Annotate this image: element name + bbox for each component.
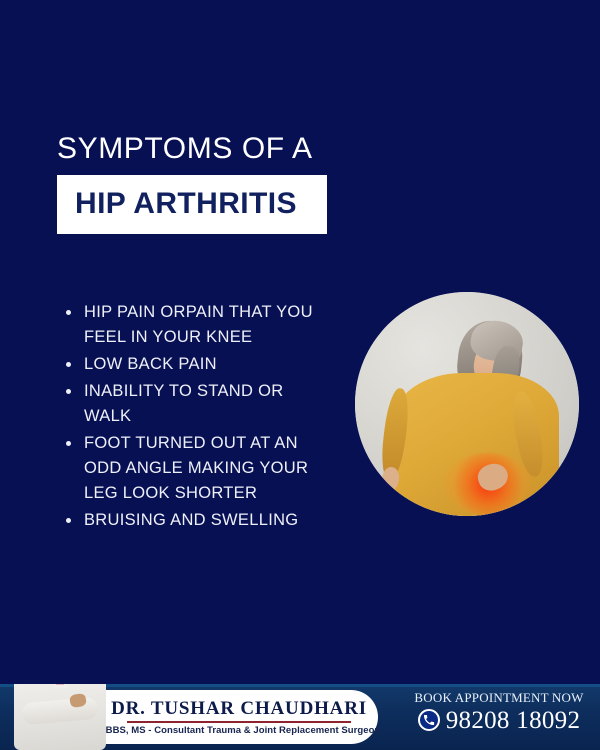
list-item: LOW BACK PAIN [62,352,330,377]
doctor-name-panel: DR. TUSHAR CHAUDHARI MBBS, MS - Consulta… [72,690,378,744]
appointment-label: BOOK APPOINTMENT NOW [400,690,598,706]
patient-holding-hip-photo [355,292,579,516]
list-item: HIP PAIN ORPAIN THAT YOU FEEL IN YOUR KN… [62,300,330,350]
hip-arthritis-infographic: SYMPTOMS OF A HIP ARTHRITIS HIP PAIN ORP… [0,0,600,750]
heading-block: SYMPTOMS OF A HIP ARTHRITIS [57,133,357,234]
doctor-credentials: MBBS, MS - Consultant Trauma & Joint Rep… [98,726,381,736]
page-title-line1: SYMPTOMS OF A [57,133,357,165]
phone-icon [418,709,440,731]
list-item: BRUISING AND SWELLING [62,508,330,533]
list-item: INABILITY TO STAND OR WALK [62,379,330,429]
phone-row[interactable]: 98208 18092 [400,708,598,733]
phone-number[interactable]: 98208 18092 [446,708,581,733]
doctor-portrait-photo [8,684,112,750]
doctor-tie [56,684,64,685]
appointment-block[interactable]: BOOK APPOINTMENT NOW 98208 18092 [400,690,598,733]
symptom-list: HIP PAIN ORPAIN THAT YOU FEEL IN YOUR KN… [62,300,330,535]
doctor-name: DR. TUSHAR CHAUDHARI [111,699,367,718]
name-divider [127,721,351,723]
page-title-highlight-box: HIP ARTHRITIS [57,175,327,234]
page-title-line2: HIP ARTHRITIS [75,187,297,221]
contact-banner: DR. TUSHAR CHAUDHARI MBBS, MS - Consulta… [0,684,600,750]
list-item: FOOT TURNED OUT AT AN ODD ANGLE MAKING Y… [62,431,330,506]
